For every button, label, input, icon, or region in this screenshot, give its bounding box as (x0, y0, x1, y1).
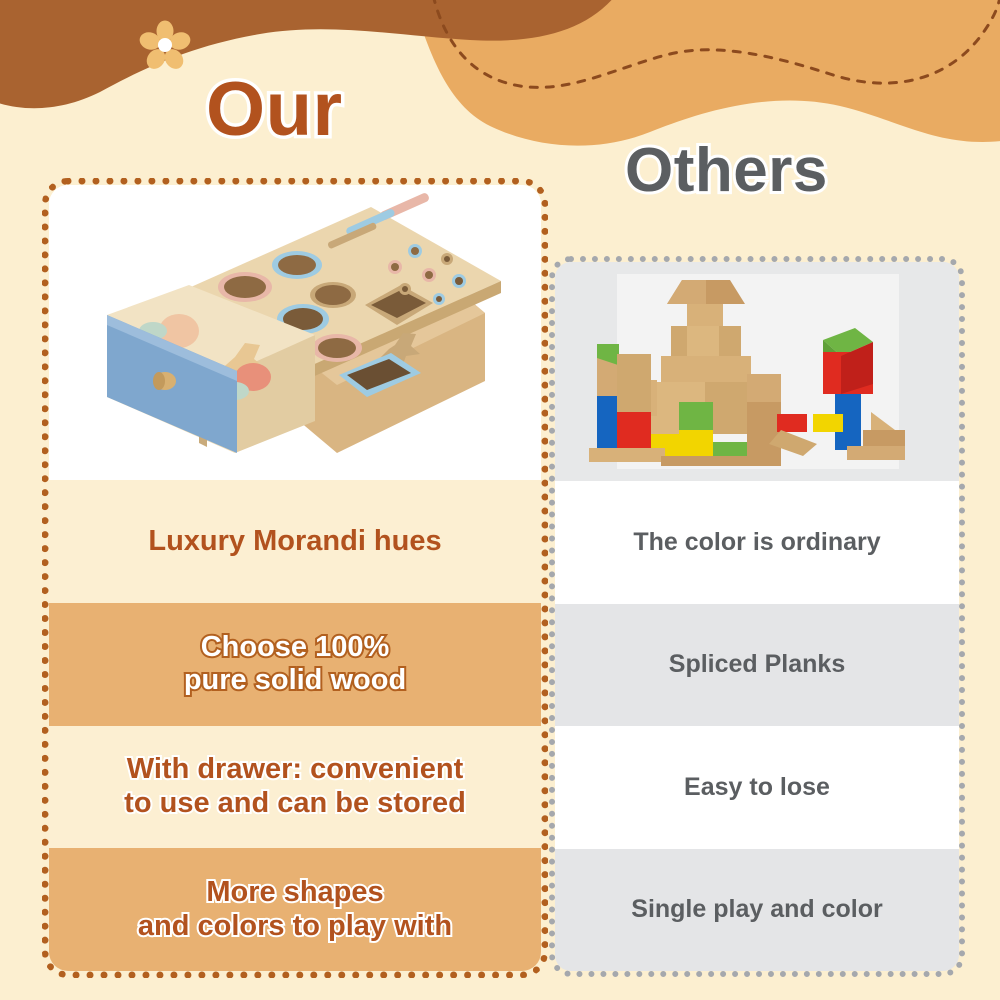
others-feature-row-1: The color is ordinary (555, 481, 959, 604)
our-feature-row-4: More shapesand colors to play with (49, 848, 541, 971)
others-feature-row-3: Easy to lose (555, 726, 959, 849)
our-feature-row-2: Choose 100%pure solid wood (49, 603, 541, 726)
our-product-photo (49, 185, 541, 480)
our-feature-row-1: Luxury Morandi hues (49, 480, 541, 603)
flower-icon (139, 20, 191, 72)
others-feature-text-3: Easy to lose (684, 773, 830, 802)
others-feature-text-4: Single play and color (631, 895, 882, 924)
others-product-photo (555, 262, 959, 481)
our-feature-text-3: With drawer: convenientto use and can be… (124, 753, 466, 820)
our-feature-text-1: Luxury Morandi hues (148, 525, 441, 559)
our-feature-text-4: More shapesand colors to play with (138, 876, 452, 943)
our-feature-row-3: With drawer: convenientto use and can be… (49, 726, 541, 849)
our-title: Our (206, 72, 343, 148)
others-feature-row-2: Spliced Planks (555, 604, 959, 727)
others-feature-text-2: Spliced Planks (669, 650, 845, 679)
our-comparison-card: Luxury Morandi hues Choose 100%pure soli… (42, 178, 548, 978)
others-feature-rows: The color is ordinary Spliced Planks Eas… (555, 481, 959, 971)
our-feature-rows: Luxury Morandi hues Choose 100%pure soli… (49, 480, 541, 971)
wave-orange-shape (410, 0, 1000, 146)
others-feature-text-1: The color is ordinary (633, 528, 880, 557)
our-feature-text-2: Choose 100%pure solid wood (184, 631, 406, 698)
others-comparison-card: The color is ordinary Spliced Planks Eas… (549, 256, 965, 977)
infographic-canvas: Our Others (0, 0, 1000, 1000)
others-title: Others (625, 140, 828, 202)
dashed-wave-line (430, 0, 1000, 87)
others-feature-row-4: Single play and color (555, 849, 959, 972)
